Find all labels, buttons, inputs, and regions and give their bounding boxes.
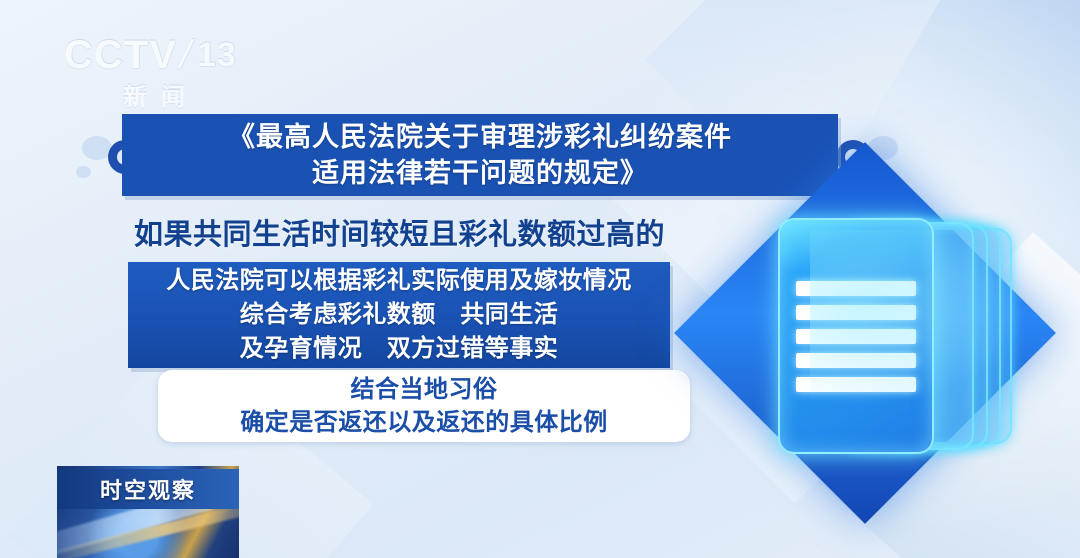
logo-slash-icon: / (175, 34, 196, 76)
ruling-line-3: 及孕育情况 双方过错等事实 (240, 332, 559, 366)
program-lower-third: 时空观察 (57, 466, 239, 558)
ruling-body-box: 人民法院可以根据彩礼实际使用及嫁妆情况 综合考虑彩礼数额 共同生活 及孕育情况 … (128, 262, 670, 368)
document-text-line-4 (796, 353, 916, 368)
ruling-line-2: 综合考虑彩礼数额 共同生活 (240, 298, 559, 332)
document-stack-icon (778, 218, 934, 454)
conclusion-line-2: 确定是否返还以及返还的具体比例 (240, 406, 608, 439)
decor-dot-left-small (76, 166, 91, 178)
logo-cctv-text: CCTV (64, 34, 177, 76)
logo-wordmark: CCTV / 13 (64, 34, 244, 76)
cctv13-logo: CCTV / 13 新闻 (64, 34, 244, 112)
logo-subtitle: 新闻 (64, 77, 244, 112)
ruling-line-1: 人民法院可以根据彩礼实际使用及嫁妆情况 (166, 264, 632, 298)
document-stack-graphic (690, 180, 1080, 530)
lead-condition-text: 如果共同生活时间较短且彩礼数额过高的 (134, 211, 665, 253)
document-text-line-1 (796, 281, 916, 296)
lead-condition-line: 如果共同生活时间较短且彩礼数额过高的 (134, 212, 754, 252)
document-text-line-3 (796, 329, 916, 344)
document-text-line-5 (796, 377, 916, 392)
lower-third-title-bar: 时空观察 (57, 469, 239, 509)
conclusion-box: 结合当地习俗 确定是否返还以及返还的具体比例 (158, 370, 690, 442)
title-line-2: 适用法律若干问题的规定》 (312, 155, 648, 191)
document-text-line-2 (796, 305, 916, 320)
conclusion-line-1: 结合当地习俗 (351, 373, 498, 406)
program-name-label: 时空观察 (100, 473, 196, 505)
logo-channel-number: 13 (197, 34, 237, 76)
broadcast-graphic-screen: CCTV / 13 新闻 《最高人民法院关于审理涉彩礼纠纷案件 适用法律若干问题… (0, 0, 1080, 558)
document-header-band (780, 220, 932, 272)
title-line-1: 《最高人民法院关于审理涉彩礼纠纷案件 (228, 119, 732, 155)
